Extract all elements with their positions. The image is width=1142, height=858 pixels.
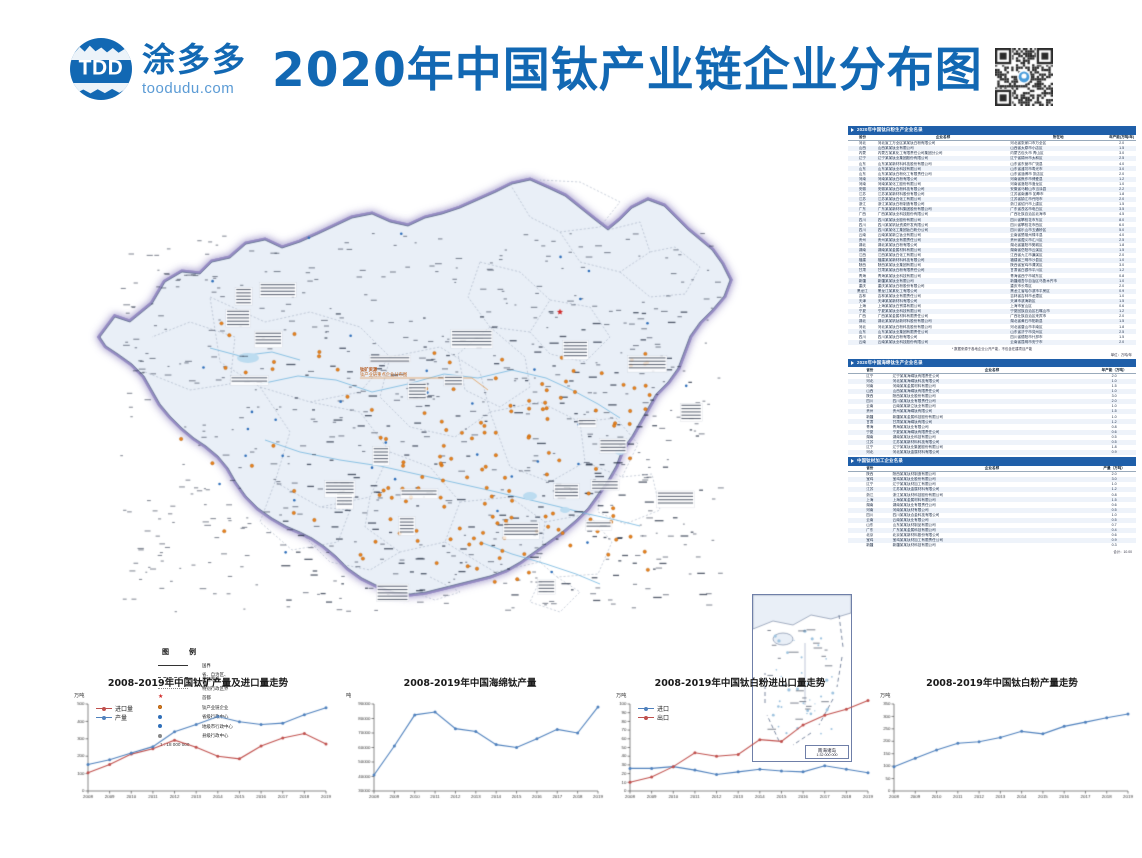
qr-code-icon[interactable]	[995, 48, 1053, 106]
table-sponge-ti[interactable]: 省份企业名称所在地年产能(万吨/年)河北河北宣工万全区某某钛白粉有限公司河北省张…	[848, 135, 1136, 345]
legend-entry: 进口	[638, 704, 669, 713]
table-title: 中国钛材加工企业名录	[857, 458, 903, 463]
table-header-ti-ingot: 中国钛材加工企业名录	[848, 457, 1136, 466]
table-header-sponge-ti: 2020年中国钛白粉生产企业名录	[848, 126, 1136, 135]
legend-entry: 进口量	[96, 704, 133, 713]
table-title: 2020年中国海绵钛生产企业名录	[857, 360, 923, 365]
poster-root: TDD 涂多多 toodudu.com 2020年中国钛产业链企业分布图 钛矿资…	[0, 0, 1142, 858]
chart-plot-area[interactable]	[334, 698, 606, 811]
column-header: 年产能(万吨/年)	[1107, 135, 1136, 141]
chart-title: 2008-2019年中国钛白粉产量走势	[868, 676, 1136, 692]
legend-swatch-icon	[96, 717, 112, 718]
chart-ti-ore[interactable]: 2008-2019年中国钛矿产量及进口量走势万吨进口量产量	[62, 676, 334, 811]
legend-label: 进口	[657, 704, 669, 713]
table-sponge[interactable]: 省份企业名称年产能（万吨）辽宁辽宁某某海绵钛有限责任公司2.0河北河北某某海绵钛…	[848, 367, 1136, 455]
chart-tio2-output[interactable]: 2008-2019年中国钛白粉产量走势万吨	[868, 676, 1136, 811]
charts-row: 2008-2019年中国钛矿产量及进口量走势万吨进口量产量 2008-2019年…	[0, 676, 1142, 816]
china-map-canvas[interactable]	[60, 122, 835, 667]
line-solid-icon	[158, 665, 202, 666]
legend-label: 产量	[115, 713, 127, 722]
triangle-right-icon	[851, 128, 854, 132]
table-cell: 河北	[848, 450, 892, 455]
legend-item-0: 国界	[158, 661, 290, 671]
logo-mark-text: TDD	[70, 57, 132, 81]
table-cell: 河北某某钛金属材料有限公司	[892, 450, 1093, 455]
legend-title: 图 例	[162, 649, 290, 657]
map-annotation-text: 钛产业链重点企业分布图	[360, 372, 407, 377]
table-header-sponge: 2020年中国海绵钛生产企业名录	[848, 359, 1136, 368]
chart-sponge-ti[interactable]: 2008-2019年中国海绵钛产量吨	[334, 676, 606, 811]
chart-plot-area[interactable]	[868, 698, 1136, 811]
chart-title: 2008-2019年中国钛白粉进出口量走势	[604, 676, 876, 692]
page-title: 2020年中国钛产业链企业分布图	[272, 40, 972, 102]
chart-tio2-trade[interactable]: 2008-2019年中国钛白粉进出口量走势万吨进口出口	[604, 676, 876, 811]
legend-swatch-icon	[638, 717, 654, 718]
table-block-sponge: 2020年中国海绵钛生产企业名录省份企业名称年产能（万吨）辽宁辽宁某某海绵钛有限…	[848, 359, 1136, 455]
legend-swatch-icon	[96, 708, 112, 709]
enterprise-tables-panel[interactable]: 2020年中国钛白粉生产企业名录省份企业名称所在地年产能(万吨/年)河北河北宣工…	[848, 126, 1136, 671]
table-ti-ingot[interactable]: 省份企业名称产量（万吨）陕西陕西某某钛材制造有限公司2.0宝鸡宝鸡某某钛业股份有…	[848, 466, 1136, 549]
chart-legend: 进口出口	[638, 704, 669, 722]
table-footer: 单位：万吨/年	[848, 351, 1136, 357]
legend-label: 进口量	[115, 704, 133, 713]
legend-label: 出口	[657, 713, 669, 722]
table-footer: 合计：10.00	[848, 548, 1136, 554]
brand-wordmark: 涂多多 toodudu.com	[142, 43, 247, 96]
chart-title: 2008-2019年中国海绵钛产量	[334, 676, 606, 692]
legend-swatch-icon	[638, 708, 654, 709]
logo-globe-icon: TDD	[70, 38, 132, 100]
triangle-right-icon	[851, 459, 854, 463]
triangle-right-icon	[851, 361, 854, 365]
legend-entry: 出口	[638, 713, 669, 722]
chart-legend: 进口量产量	[96, 704, 133, 722]
table-row[interactable]: 河北河北某某钛金属材料有限公司0.9	[848, 450, 1136, 455]
brand-logo: TDD 涂多多 toodudu.com	[70, 38, 247, 100]
map-annotation: 钛矿资源 钛产业链重点企业分布图	[360, 367, 407, 378]
table-block-sponge-ti: 2020年中国钛白粉生产企业名录省份企业名称所在地年产能(万吨/年)河北河北宣工…	[848, 126, 1136, 357]
brand-domain: toodudu.com	[142, 81, 247, 96]
legend-entry: 产量	[96, 713, 133, 722]
china-map-panel: 钛矿资源 钛产业链重点企业分布图 图 例 国界 省、自治区、 直辖市界 特别行政…	[60, 122, 835, 667]
table-block-ti-ingot: 中国钛材加工企业名录省份企业名称产量（万吨）陕西陕西某某钛材制造有限公司2.0宝…	[848, 457, 1136, 554]
table-cell: 0.9	[1092, 450, 1136, 455]
chart-title: 2008-2019年中国钛矿产量及进口量走势	[62, 676, 334, 692]
legend-label: 国界	[202, 663, 211, 668]
poster-header: TDD 涂多多 toodudu.com 2020年中国钛产业链企业分布图	[0, 0, 1142, 125]
logo-wave-shape	[70, 83, 132, 96]
table-title: 2020年中国钛白粉生产企业名录	[857, 127, 923, 132]
brand-name-cn: 涂多多	[142, 43, 247, 76]
